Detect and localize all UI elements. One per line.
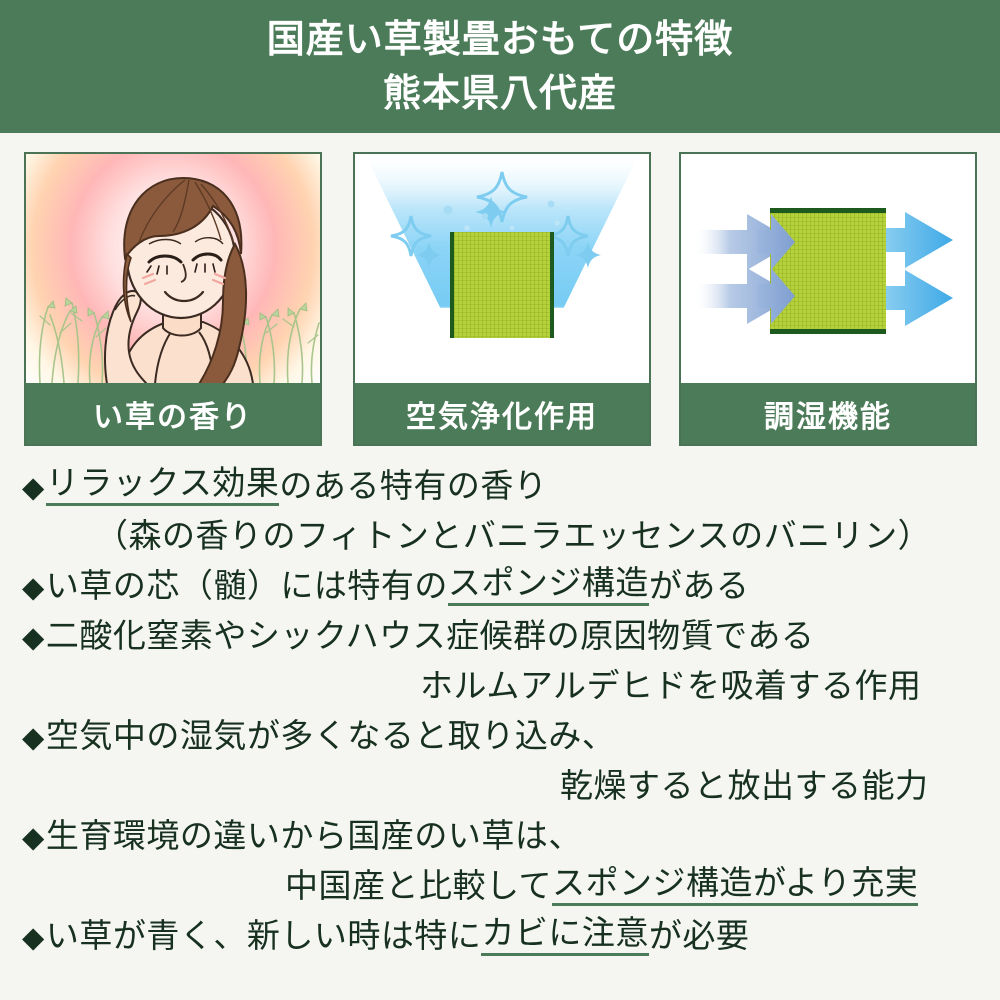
feature-panel-humidity-control: 調湿機能 bbox=[679, 152, 977, 446]
feature-text: ホルムアルデヒドを吸着する作用 bbox=[420, 671, 922, 704]
feature-text: のある特有の香り bbox=[279, 471, 547, 504]
panel-label-humidity-control: 調湿機能 bbox=[681, 383, 975, 444]
feature-panel-air-purification: 空気浄化作用 bbox=[353, 152, 651, 446]
diamond-bullet-icon: ◆ bbox=[22, 623, 45, 652]
diamond-bullet-icon: ◆ bbox=[22, 573, 45, 602]
feature-text: 乾燥すると放出する能力 bbox=[560, 771, 929, 804]
feature-line: ホルムアルデヒドを吸着する作用 bbox=[0, 662, 1000, 712]
panel-label-air-purification: 空気浄化作用 bbox=[355, 383, 649, 444]
diamond-bullet-icon: ◆ bbox=[22, 473, 45, 502]
feature-line: ◆二酸化窒素やシックハウス症候群の原因物質である bbox=[0, 612, 1000, 662]
feature-text: がある bbox=[649, 571, 750, 604]
feature-text: 空気中の湿気が多くなると取り込み、 bbox=[46, 721, 616, 754]
feature-line: 乾燥すると放出する能力 bbox=[0, 762, 1000, 812]
feature-line: ◆生育環境の違いから国産のい草は、 bbox=[0, 812, 1000, 862]
air-purification-illustration bbox=[355, 154, 649, 383]
feature-text: 中国産と比較して bbox=[285, 871, 552, 904]
highlighted-text: カビに注意 bbox=[481, 918, 649, 956]
header-title-line-1: 国産い草製畳おもての特徴 bbox=[267, 14, 733, 68]
feature-text: 生育環境の違いから国産のい草は、 bbox=[46, 821, 582, 854]
fragrance-illustration bbox=[26, 154, 320, 383]
diamond-bullet-icon: ◆ bbox=[22, 923, 45, 952]
header-title-line-2: 熊本県八代産 bbox=[383, 68, 617, 122]
feature-text: 二酸化窒素やシックハウス症候群の原因物質である bbox=[46, 621, 815, 654]
page-header: 国産い草製畳おもての特徴 熊本県八代産 bbox=[0, 0, 1000, 133]
feature-line: 中国産と比較してスポンジ構造がより充実 bbox=[0, 862, 1000, 912]
highlighted-text: スポンジ構造 bbox=[448, 568, 649, 606]
feature-panel-fragrance: い草の香り bbox=[24, 152, 322, 446]
feature-text: い草が青く、新しい時は特に bbox=[46, 921, 482, 954]
tatami-mat-icon bbox=[450, 232, 554, 338]
infographic-page: 国産い草製畳おもての特徴 熊本県八代産 bbox=[0, 0, 1000, 1000]
humidity-control-illustration bbox=[681, 154, 975, 383]
panel-label-fragrance: い草の香り bbox=[26, 383, 320, 444]
tatami-mat-icon bbox=[770, 208, 886, 334]
feature-description-list: ◆リラックス効果のある特有の香り（森の香りのフィトンとバニラエッセンスのバニリン… bbox=[0, 462, 1000, 962]
diamond-bullet-icon: ◆ bbox=[22, 823, 45, 852]
highlighted-text: スポンジ構造がより充実 bbox=[552, 868, 918, 906]
highlighted-text: リラックス効果 bbox=[46, 468, 280, 506]
diamond-bullet-icon: ◆ bbox=[22, 723, 45, 752]
feature-line: （森の香りのフィトンとバニラエッセンスのバニリン） bbox=[0, 512, 1000, 562]
feature-text: い草の芯（髄）には特有の bbox=[46, 571, 448, 604]
feature-line: ◆リラックス効果のある特有の香り bbox=[0, 462, 1000, 512]
feature-line: ◆い草の芯（髄）には特有のスポンジ構造がある bbox=[0, 562, 1000, 612]
relaxed-woman-icon bbox=[63, 162, 283, 383]
feature-text: （森の香りのフィトンとバニラエッセンスのバニリン） bbox=[95, 521, 931, 554]
feature-text: が必要 bbox=[649, 921, 750, 954]
feature-line: ◆空気中の湿気が多くなると取り込み、 bbox=[0, 712, 1000, 762]
feature-panel-row: い草の香り bbox=[0, 152, 1000, 449]
feature-line: ◆い草が青く、新しい時は特にカビに注意が必要 bbox=[0, 912, 1000, 962]
